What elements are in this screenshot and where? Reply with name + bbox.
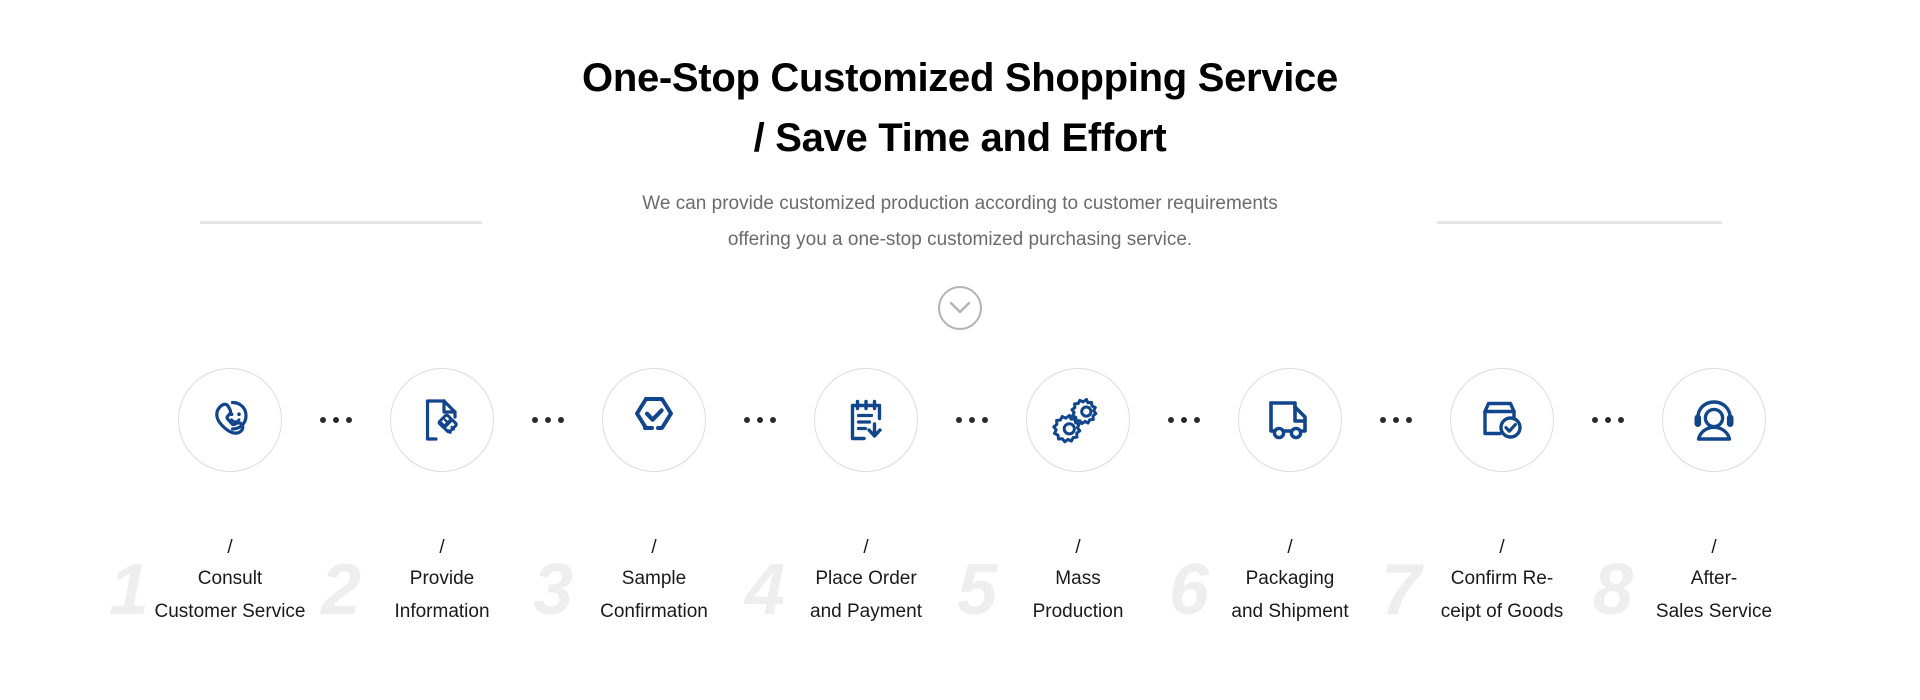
step-item[interactable] [781,368,951,472]
step-label-line-1: Sample [569,564,739,593]
step-caption: 6 / Packaging and Shipment [1205,510,1375,626]
step-slash: / [1417,536,1587,560]
caption-spacer [1587,510,1629,614]
three-dots-icon [951,368,993,472]
step-label-line-1: Consult [145,564,315,593]
step-label-line-1: After- [1629,564,1799,593]
title-line-1: One-Stop Customized Shopping Service [0,48,1920,108]
process-steps [0,368,1920,472]
step-slash: / [1629,536,1799,560]
page-title: One-Stop Customized Shopping Service / S… [0,0,1920,168]
three-dots-icon [315,368,357,472]
step-item[interactable] [1417,368,1587,472]
step-item[interactable] [357,368,527,472]
three-dots-icon [1587,368,1629,472]
step-slash: / [781,536,951,560]
step-slash: / [569,536,739,560]
delivery-truck-icon[interactable] [1238,368,1342,472]
step-label-line-2: and Payment [781,597,951,626]
phone-smiley-icon[interactable] [178,368,282,472]
header-section: One-Stop Customized Shopping Service / S… [0,0,1920,258]
title-line-2: / Save Time and Effort [0,108,1920,168]
step-label-line-1: Mass [993,564,1163,593]
process-step-captions: 1 / Consult Customer Service 2 / Provide… [0,510,1920,626]
step-slash: / [1205,536,1375,560]
step-item[interactable] [569,368,739,472]
step-slash: / [145,536,315,560]
step-item[interactable] [145,368,315,472]
step-caption: 2 / Provide Information [357,510,527,626]
gears-icon[interactable] [1026,368,1130,472]
caption-spacer [739,510,781,614]
caption-spacer [1375,510,1417,614]
divider-right [1437,221,1722,224]
step-label-line-1: Provide [357,564,527,593]
order-download-icon[interactable] [814,368,918,472]
step-label-line-2: Sales Service [1629,597,1799,626]
caption-spacer [527,510,569,614]
step-slash: / [357,536,527,560]
step-number: 1 [109,554,149,626]
step-caption: 8 / After- Sales Service [1629,510,1799,626]
step-label-line-2: and Shipment [1205,597,1375,626]
caption-spacer [951,510,993,614]
step-item[interactable] [1205,368,1375,472]
step-caption: 7 / Confirm Re- ceipt of Goods [1417,510,1587,626]
divider-left [200,221,482,224]
step-label-line-2: ceipt of Goods [1417,597,1587,626]
step-caption: 1 / Consult Customer Service [145,510,315,626]
three-dots-icon [527,368,569,472]
document-design-icon[interactable] [390,368,494,472]
step-label-line-1: Place Order [781,564,951,593]
step-label-line-1: Packaging [1205,564,1375,593]
step-item[interactable] [993,368,1163,472]
step-label-line-2: Confirmation [569,597,739,626]
step-caption: 4 / Place Order and Payment [781,510,951,626]
step-slash: / [993,536,1163,560]
subtitle-line-2: offering you a one-stop customized purch… [0,222,1920,258]
scroll-down-button[interactable] [938,286,982,330]
box-check-icon[interactable] [1450,368,1554,472]
step-item[interactable] [1629,368,1799,472]
step-caption: 3 / Sample Confirmation [569,510,739,626]
three-dots-icon [1375,368,1417,472]
step-caption: 5 / Mass Production [993,510,1163,626]
headset-support-icon[interactable] [1662,368,1766,472]
step-label-line-2: Production [993,597,1163,626]
hexagon-check-icon[interactable] [602,368,706,472]
step-label-line-2: Customer Service [145,597,315,626]
subtitle-line-1: We can provide customized production acc… [0,186,1920,222]
step-label-line-1: Confirm Re- [1417,564,1587,593]
caption-spacer [1163,510,1205,614]
three-dots-icon [739,368,781,472]
chevron-down-icon[interactable] [938,286,982,330]
three-dots-icon [1163,368,1205,472]
step-label-line-2: Information [357,597,527,626]
caption-spacer [315,510,357,614]
